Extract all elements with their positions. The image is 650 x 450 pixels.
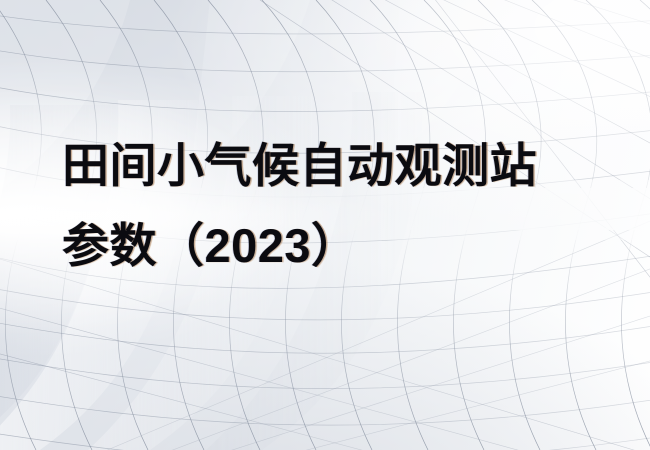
title-line-1: 田间小气候自动观测站: [62, 126, 602, 206]
page-title: 田间小气候自动观测站 参数（2023）: [62, 126, 602, 286]
title-slide: 田间小气候自动观测站 参数（2023）: [0, 0, 650, 450]
title-line-2: 参数（2023）: [62, 206, 602, 286]
